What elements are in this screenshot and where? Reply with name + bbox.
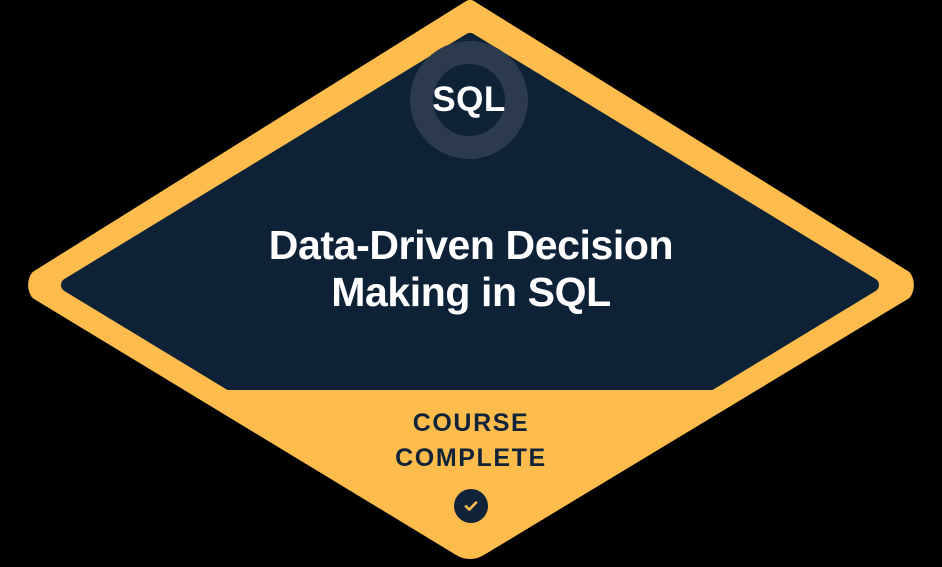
completion-block: COURSE COMPLETE (271, 406, 671, 523)
sql-logo-label: SQL (410, 41, 528, 159)
completion-label: COURSE COMPLETE (271, 406, 671, 476)
course-title: Data-Driven Decision Making in SQL (131, 222, 811, 316)
check-circle-icon (454, 489, 488, 523)
course-completion-badge: SQL Data-Driven Decision Making in SQL C… (0, 0, 942, 567)
sql-logo: SQL (410, 41, 528, 159)
